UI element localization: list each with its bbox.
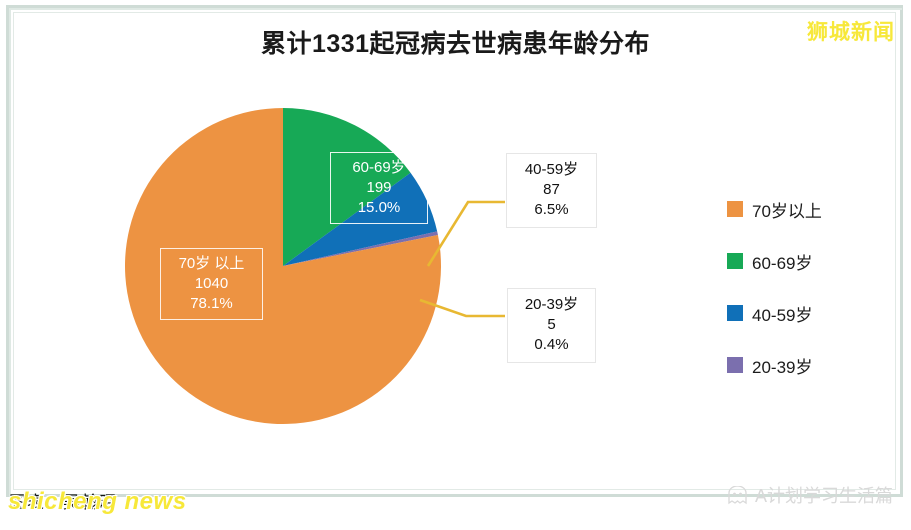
legend-label-70-plus: 70岁以上 bbox=[752, 197, 822, 222]
watermark-bottom-right: A计划学习生活篇 bbox=[727, 482, 893, 508]
legend-item-70-plus[interactable]: 70岁以上 bbox=[727, 183, 887, 235]
watermark-bottom-left: shicheng news bbox=[8, 488, 187, 516]
watermark-bottom-right-text: A计划学习生活篇 bbox=[755, 482, 893, 508]
chart-title: 累计1331起冠病去世病患年龄分布 bbox=[0, 24, 911, 60]
slide-canvas: 累计1331起冠病去世病患年龄分布 .pie-wrap{display:no bbox=[0, 0, 911, 530]
data-label-70-plus: 70岁 以上 1040 78.1% bbox=[160, 248, 263, 320]
data-label-40-59: 40-59岁 87 6.5% bbox=[506, 153, 597, 228]
data-label-70-plus-value: 1040 bbox=[165, 274, 258, 294]
legend-swatch-70-plus bbox=[727, 201, 743, 217]
legend-label-60-69: 60-69岁 bbox=[752, 249, 812, 274]
legend-swatch-20-39 bbox=[727, 357, 743, 373]
data-label-20-39-category: 20-39岁 bbox=[512, 295, 591, 315]
data-label-20-39-percent: 0.4% bbox=[512, 335, 591, 355]
legend-label-20-39: 20-39岁 bbox=[752, 353, 812, 378]
data-label-60-69-percent: 15.0% bbox=[335, 198, 423, 218]
data-label-60-69-value: 199 bbox=[335, 178, 423, 198]
data-label-60-69: 60-69岁 199 15.0% bbox=[330, 152, 428, 224]
legend-swatch-60-69 bbox=[727, 253, 743, 269]
data-label-70-plus-percent: 78.1% bbox=[165, 294, 258, 314]
legend-label-40-59: 40-59岁 bbox=[752, 301, 812, 326]
legend-item-20-39[interactable]: 20-39岁 bbox=[727, 339, 887, 391]
data-label-40-59-value: 87 bbox=[511, 180, 592, 200]
chart-legend: 70岁以上 60-69岁 40-59岁 20-39岁 bbox=[727, 183, 887, 391]
data-label-40-59-percent: 6.5% bbox=[511, 200, 592, 220]
data-label-20-39: 20-39岁 5 0.4% bbox=[507, 288, 596, 363]
data-label-60-69-category: 60-69岁 bbox=[335, 158, 423, 178]
legend-item-60-69[interactable]: 60-69岁 bbox=[727, 235, 887, 287]
legend-item-40-59[interactable]: 40-59岁 bbox=[727, 287, 887, 339]
data-label-40-59-category: 40-59岁 bbox=[511, 160, 592, 180]
data-label-20-39-value: 5 bbox=[512, 315, 591, 335]
watermark-top-right: 狮城新闻 bbox=[807, 16, 895, 46]
data-label-70-plus-category: 70岁 以上 bbox=[165, 254, 258, 274]
legend-swatch-40-59 bbox=[727, 305, 743, 321]
ghost-icon bbox=[727, 486, 748, 505]
